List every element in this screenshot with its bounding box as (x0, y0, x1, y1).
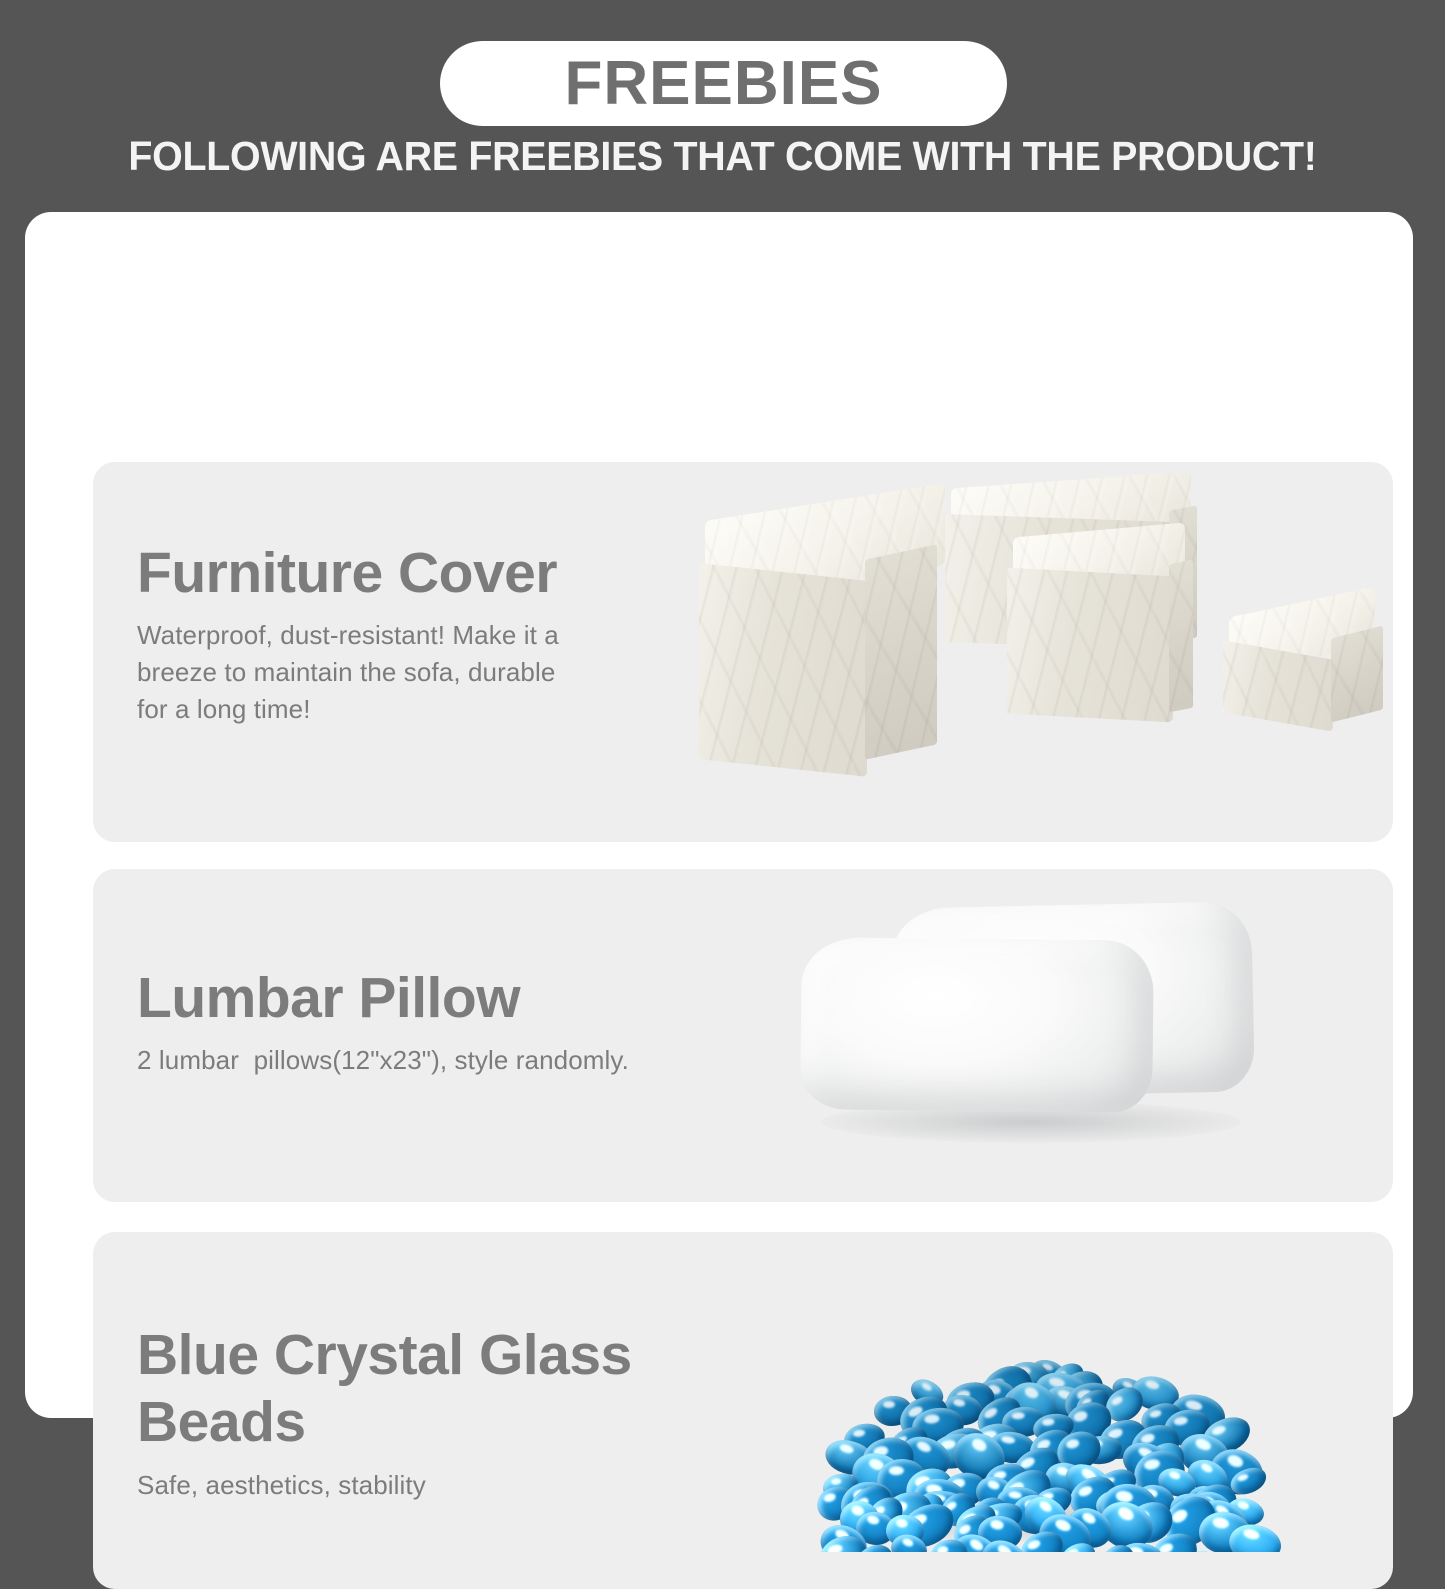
card-text-block: Lumbar Pillow 2 lumbar pillows(12"x23"),… (137, 965, 737, 1079)
cover-wrinkle-texture (1331, 626, 1383, 723)
cover-side-face (1331, 626, 1383, 723)
card-text-block: Blue Crystal Glass Beads Safe, aesthetic… (137, 1322, 737, 1503)
freebie-card-lumbar-pillow: Lumbar Pillow 2 lumbar pillows(12"x23"),… (93, 869, 1393, 1202)
cover-front-face (1007, 568, 1173, 723)
cover-wrinkle-texture (1169, 560, 1193, 713)
card-description: 2 lumbar pillows(12"x23"), style randoml… (137, 1042, 737, 1079)
card-description: Waterproof, dust-resistant! Make it a br… (137, 617, 737, 728)
header-subtitle: FOLLOWING ARE FREEBIES THAT COME WITH TH… (29, 133, 1416, 180)
card-title: Furniture Cover (137, 540, 737, 607)
cover-front-face (699, 563, 867, 777)
cover-side-face (865, 544, 937, 759)
freebie-card-furniture-cover: Furniture Cover Waterproof, dust-resista… (93, 462, 1393, 842)
card-description: Safe, aesthetics, stability (137, 1467, 737, 1504)
cover-wrinkle-texture (865, 544, 937, 759)
card-text-block: Furniture Cover Waterproof, dust-resista… (137, 540, 737, 728)
furniture-cover-set-image (683, 472, 1383, 832)
cover-wrinkle-texture (1007, 568, 1173, 723)
freebies-panel: Furniture Cover Waterproof, dust-resista… (25, 212, 1413, 1418)
card-title: Blue Crystal Glass Beads (137, 1322, 737, 1457)
lumbar-pillows-image (773, 889, 1373, 1179)
cover-armchair (1005, 530, 1215, 750)
pillow-front (800, 937, 1154, 1113)
cover-side-face (1169, 560, 1193, 713)
freebies-badge: FREEBIES (440, 41, 1007, 126)
freebie-card-glass-beads: Blue Crystal Glass Beads Safe, aesthetic… (93, 1232, 1393, 1589)
header: FREEBIES FOLLOWING ARE FREEBIES THAT COM… (0, 0, 1445, 200)
freebies-badge-label: FREEBIES (564, 53, 882, 115)
cover-wrinkle-texture (699, 563, 867, 777)
card-title: Lumbar Pillow (137, 965, 737, 1032)
cover-bench (1219, 602, 1383, 752)
blue-glass-beads-image (773, 1262, 1373, 1552)
beads-cluster (773, 1262, 1373, 1552)
